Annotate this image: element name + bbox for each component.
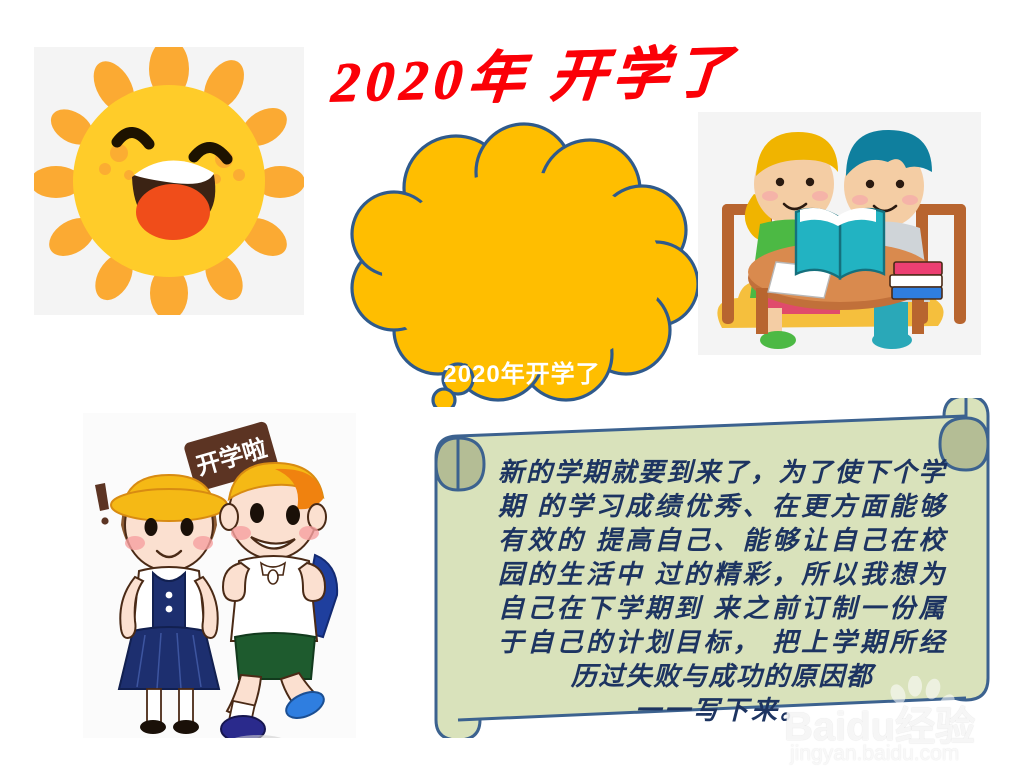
smiling-sun-icon — [34, 47, 304, 315]
thought-bubble: 2020年开学了 — [338, 122, 706, 407]
watermark-url: jingyan.baidu.com — [790, 742, 959, 766]
page-title: 2020年 开学了 — [329, 37, 716, 119]
sun-illustration-panel — [34, 47, 304, 315]
scroll-paper-shape — [424, 398, 1004, 738]
cloud-bubble-shape — [338, 122, 706, 407]
two-students-icon: 开学啦 — [83, 413, 356, 738]
two-kids-reading-icon — [698, 112, 981, 355]
poster-canvas: 2020年 开学了 — [0, 0, 1033, 776]
scroll-banner: 新的学期就要到来了，为了使下个学期 的学习成绩优秀、在更方面能够有效的 提高自己… — [424, 398, 1004, 738]
students-illustration-panel: 开学啦 — [83, 413, 356, 738]
kids-reading-illustration-panel — [698, 112, 981, 355]
